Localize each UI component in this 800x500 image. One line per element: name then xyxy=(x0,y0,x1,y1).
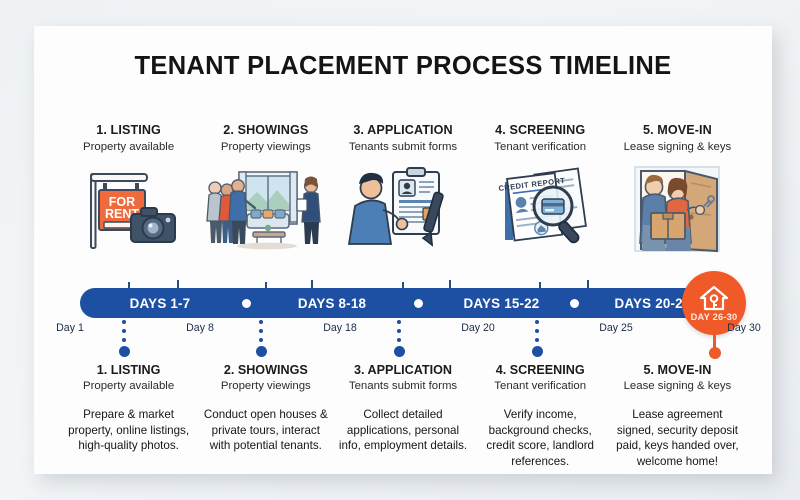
timeline-divider-dot-1 xyxy=(242,299,251,308)
step-node-4 xyxy=(532,346,543,357)
step-5-subtitle: Lease signing & keys xyxy=(609,140,746,155)
detail-column-listing: 1. LISTING Property available Prepare & … xyxy=(60,362,197,482)
timeline-divider-dot-2 xyxy=(414,299,423,308)
step-1-heading: 1. LISTING xyxy=(60,122,197,138)
page-title: TENANT PLACEMENT PROCESS TIMELINE xyxy=(34,52,772,81)
detail-2-subtitle: Property viewings xyxy=(201,379,330,394)
step-column-showings: 2. SHOWINGS Property viewings xyxy=(197,122,334,292)
detail-4-description: Verify income, background checks, credit… xyxy=(476,407,605,469)
clipboard-application-form-icon xyxy=(334,164,471,256)
detail-5-subtitle: Lease signing & keys xyxy=(613,379,742,394)
detail-1-description: Prepare & market property, online listin… xyxy=(64,407,193,454)
infographic-card: TENANT PLACEMENT PROCESS TIMELINE 1. LIS… xyxy=(34,26,772,474)
detail-5-description: Lease agreement signed, security deposit… xyxy=(613,407,742,469)
detail-4-heading: 4. SCREENING xyxy=(476,362,605,378)
infographic-stage: TENANT PLACEMENT PROCESS TIMELINE 1. LIS… xyxy=(0,0,800,500)
detail-column-application: 3. APPLICATION Tenants submit forms Coll… xyxy=(334,362,471,482)
step-node-2 xyxy=(256,346,267,357)
detail-3-description: Collect detailed applications, personal … xyxy=(338,407,467,454)
credit-report-magnifier-icon: CREDIT REPORT xyxy=(472,164,609,256)
timeline-tick-2 xyxy=(311,280,313,289)
timeline-segment-3[interactable]: DAYS 15-22 xyxy=(424,288,579,318)
step-column-application: 3. APPLICATION Tenants submit forms xyxy=(334,122,471,292)
for-rent-sign-camera-icon: FOR RENT xyxy=(60,164,197,256)
step-4-heading: 4. SCREENING xyxy=(472,122,609,138)
day-label-4: Day 20 xyxy=(461,322,495,334)
day-label-5: Day 25 xyxy=(599,322,633,334)
steps-top-row: 1. LISTING Property available FOR RENT xyxy=(60,122,746,292)
step-3-heading: 3. APPLICATION xyxy=(334,122,471,138)
agent-showing-living-room-icon xyxy=(197,164,334,256)
detail-4-subtitle: Tenant verification xyxy=(476,379,605,394)
couple-moving-boxes-door-icon xyxy=(609,164,746,256)
day-label-3: Day 18 xyxy=(323,322,357,334)
timeline-segment-1[interactable]: DAYS 1-7 xyxy=(80,288,240,318)
step-node-1 xyxy=(119,346,130,357)
day-label-2: Day 8 xyxy=(186,322,214,334)
step-column-screening: 4. SCREENING Tenant verification xyxy=(472,122,609,292)
timeline-segment-2[interactable]: DAYS 8-18 xyxy=(252,288,412,318)
step-3-subtitle: Tenants submit forms xyxy=(334,140,471,155)
detail-1-subtitle: Property available xyxy=(64,379,193,394)
timeline-tick-1 xyxy=(177,280,179,289)
move-in-badge-label: DAY 26-30 xyxy=(691,312,738,322)
day-label-6: Day 30 xyxy=(727,322,761,334)
step-4-subtitle: Tenant verification xyxy=(472,140,609,155)
detail-2-heading: 2. SHOWINGS xyxy=(201,362,330,378)
detail-column-screening: 4. SCREENING Tenant verification Verify … xyxy=(472,362,609,482)
step-column-movein: 5. MOVE-IN Lease signing & keys xyxy=(609,122,746,292)
step-1-subtitle: Property available xyxy=(60,140,197,155)
timeline-bar: DAYS 1-7 DAYS 8-18 DAYS 15-22 DAYS 20-25 xyxy=(80,288,740,318)
detail-2-description: Conduct open houses & private tours, int… xyxy=(201,407,330,454)
steps-bottom-row: 1. LISTING Property available Prepare & … xyxy=(60,362,746,482)
step-2-heading: 2. SHOWINGS xyxy=(197,122,334,138)
timeline-tick-4 xyxy=(587,280,589,289)
detail-column-showings: 2. SHOWINGS Property viewings Conduct op… xyxy=(197,362,334,482)
detail-column-movein: 5. MOVE-IN Lease signing & keys Lease ag… xyxy=(609,362,746,482)
detail-3-subtitle: Tenants submit forms xyxy=(338,379,467,394)
step-column-listing: 1. LISTING Property available FOR RENT xyxy=(60,122,197,292)
detail-1-heading: 1. LISTING xyxy=(64,362,193,378)
timeline-divider-dot-3 xyxy=(570,299,579,308)
day-label-1: Day 1 xyxy=(56,322,84,334)
step-2-subtitle: Property viewings xyxy=(197,140,334,155)
detail-5-heading: 5. MOVE-IN xyxy=(613,362,742,378)
timeline-tick-3 xyxy=(449,280,451,289)
house-key-icon xyxy=(699,285,729,311)
detail-3-heading: 3. APPLICATION xyxy=(338,362,467,378)
step-5-heading: 5. MOVE-IN xyxy=(609,122,746,138)
step-node-3 xyxy=(394,346,405,357)
move-in-badge-node xyxy=(709,347,721,359)
